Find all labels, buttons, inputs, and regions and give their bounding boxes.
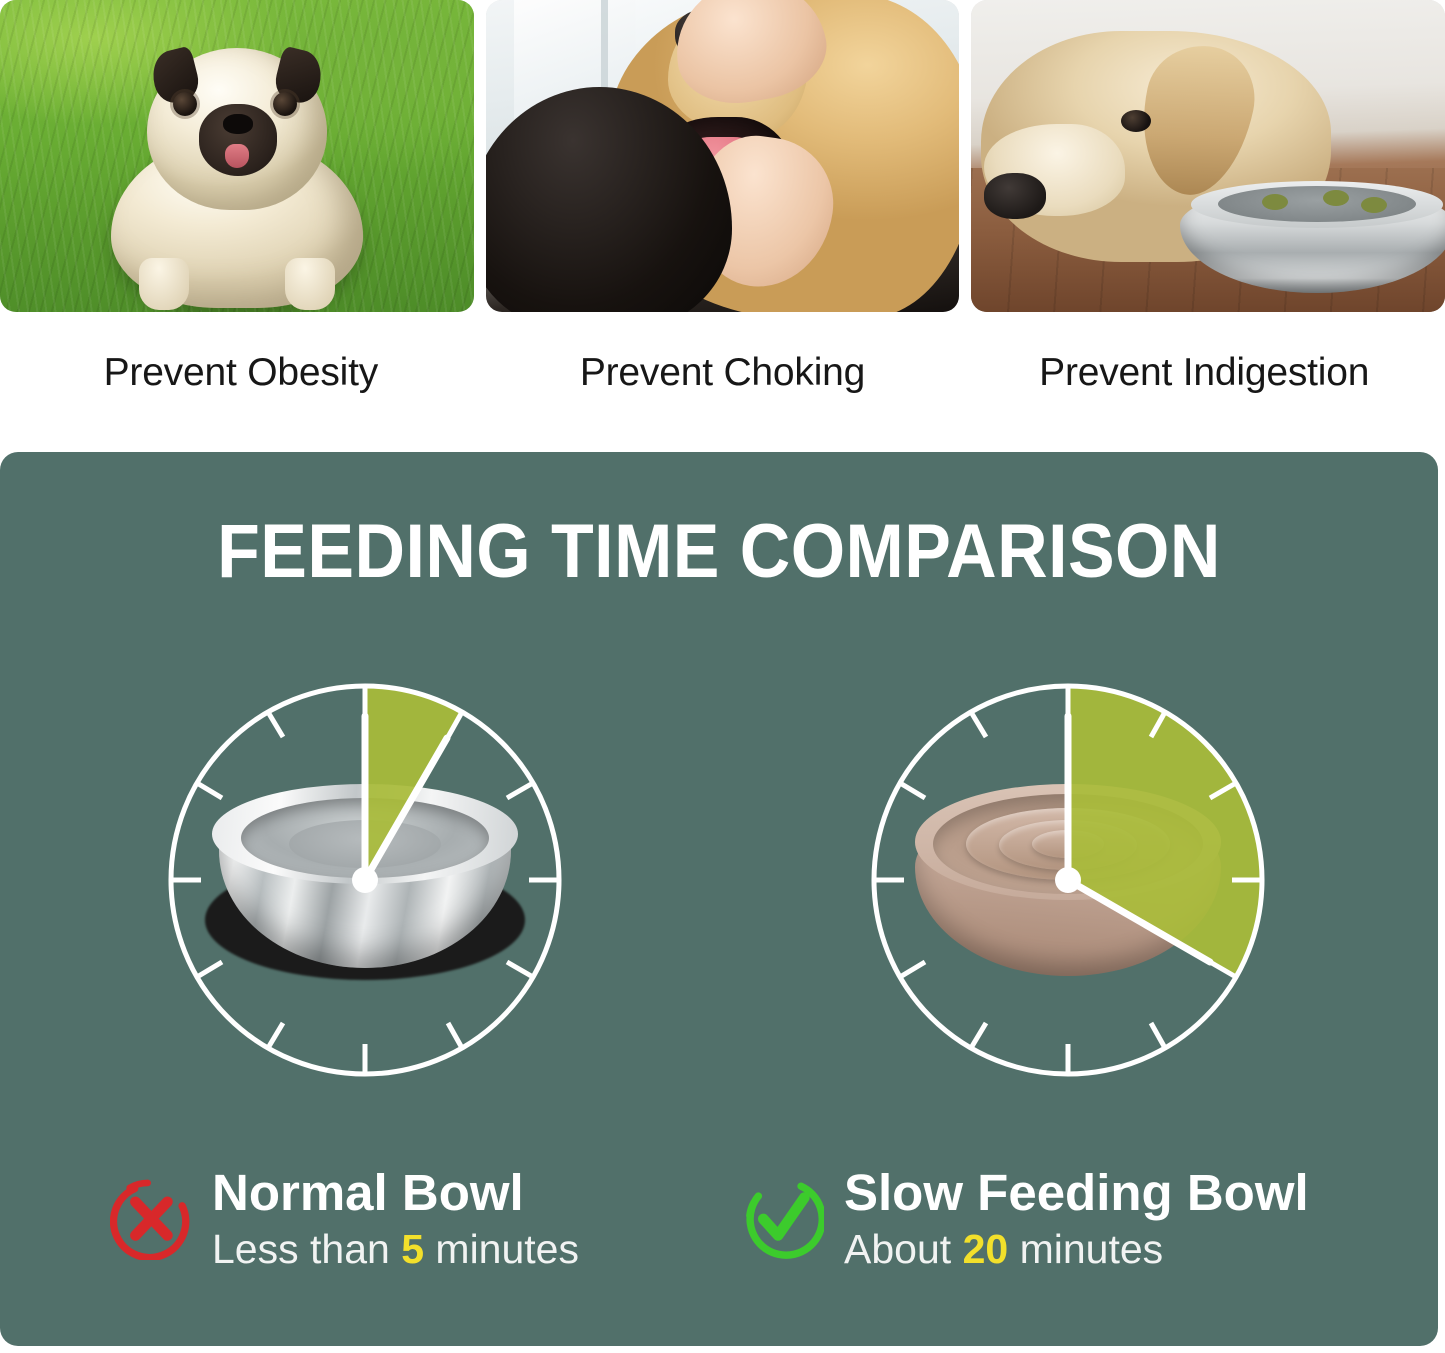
check-icon — [742, 1178, 824, 1260]
labrador-snout — [984, 124, 1124, 216]
comparison-sub-normal-bowl: Less than 5 minutes — [212, 1226, 579, 1273]
label-text-normal-bowl: Normal Bowl Less than 5 minutes — [212, 1162, 579, 1273]
clock-face-slow-feeding-bowl — [858, 670, 1278, 1090]
pug-leg-right — [285, 258, 335, 310]
labrador-nose — [984, 173, 1046, 219]
comparison-title-normal-bowl: Normal Bowl — [212, 1166, 579, 1220]
clock-slow-feeding-bowl — [858, 670, 1278, 1090]
benefit-photo-prevent-choking — [486, 0, 960, 312]
clock-face-normal-bowl — [155, 670, 575, 1090]
cross-icon — [110, 1178, 192, 1260]
pug-leg-left — [139, 258, 189, 310]
benefit-photo-prevent-indigestion — [971, 0, 1445, 312]
label-text-slow-feeding-bowl: Slow Feeding Bowl About 20 minutes — [844, 1162, 1309, 1273]
comparison-label-slow-feeding-bowl: Slow Feeding Bowl About 20 minutes — [742, 1162, 1309, 1273]
benefit-caption-prevent-obesity: Prevent Obesity — [0, 330, 482, 416]
comparison-sub-slow-feeding-bowl: About 20 minutes — [844, 1226, 1309, 1273]
comparison-label-normal-bowl: Normal Bowl Less than 5 minutes — [110, 1162, 579, 1273]
kibble-piece — [1262, 194, 1288, 210]
pug-tongue — [225, 144, 249, 168]
clock-normal-bowl — [155, 670, 575, 1090]
feeding-time-comparison-panel: FEEDING TIME COMPARISON — [0, 452, 1438, 1346]
steel-bowl-photo — [1180, 187, 1445, 293]
pug-head — [147, 48, 327, 210]
comparison-labels: Normal Bowl Less than 5 minutes Slow Fee… — [0, 1162, 1438, 1302]
sub-value-highlight: 5 — [401, 1226, 424, 1272]
sub-suffix: minutes — [435, 1226, 579, 1272]
sub-prefix: About — [844, 1226, 951, 1272]
pug-eye-right — [273, 92, 297, 116]
benefit-caption-prevent-indigestion: Prevent Indigestion — [963, 330, 1445, 416]
comparison-title-slow-feeding-bowl: Slow Feeding Bowl — [844, 1166, 1309, 1220]
pug-eye-left — [173, 92, 197, 116]
pug-muzzle — [199, 104, 277, 176]
benefit-caption-prevent-choking: Prevent Choking — [482, 330, 964, 416]
sub-prefix: Less than — [212, 1226, 390, 1272]
clock-center-cap — [352, 867, 378, 893]
benefits-photo-row — [0, 0, 1445, 312]
sub-suffix: minutes — [1020, 1226, 1164, 1272]
benefits-caption-row: Prevent Obesity Prevent Choking Prevent … — [0, 330, 1445, 416]
panel-title: FEEDING TIME COMPARISON — [58, 508, 1381, 595]
fat-pug-illustration — [87, 42, 387, 310]
benefit-photo-prevent-obesity — [0, 0, 474, 312]
sub-value-highlight: 20 — [963, 1226, 1009, 1272]
labrador-eye — [1121, 110, 1151, 132]
pug-nose — [223, 114, 253, 134]
clock-center-cap — [1055, 867, 1081, 893]
kibble-piece — [1361, 197, 1387, 213]
